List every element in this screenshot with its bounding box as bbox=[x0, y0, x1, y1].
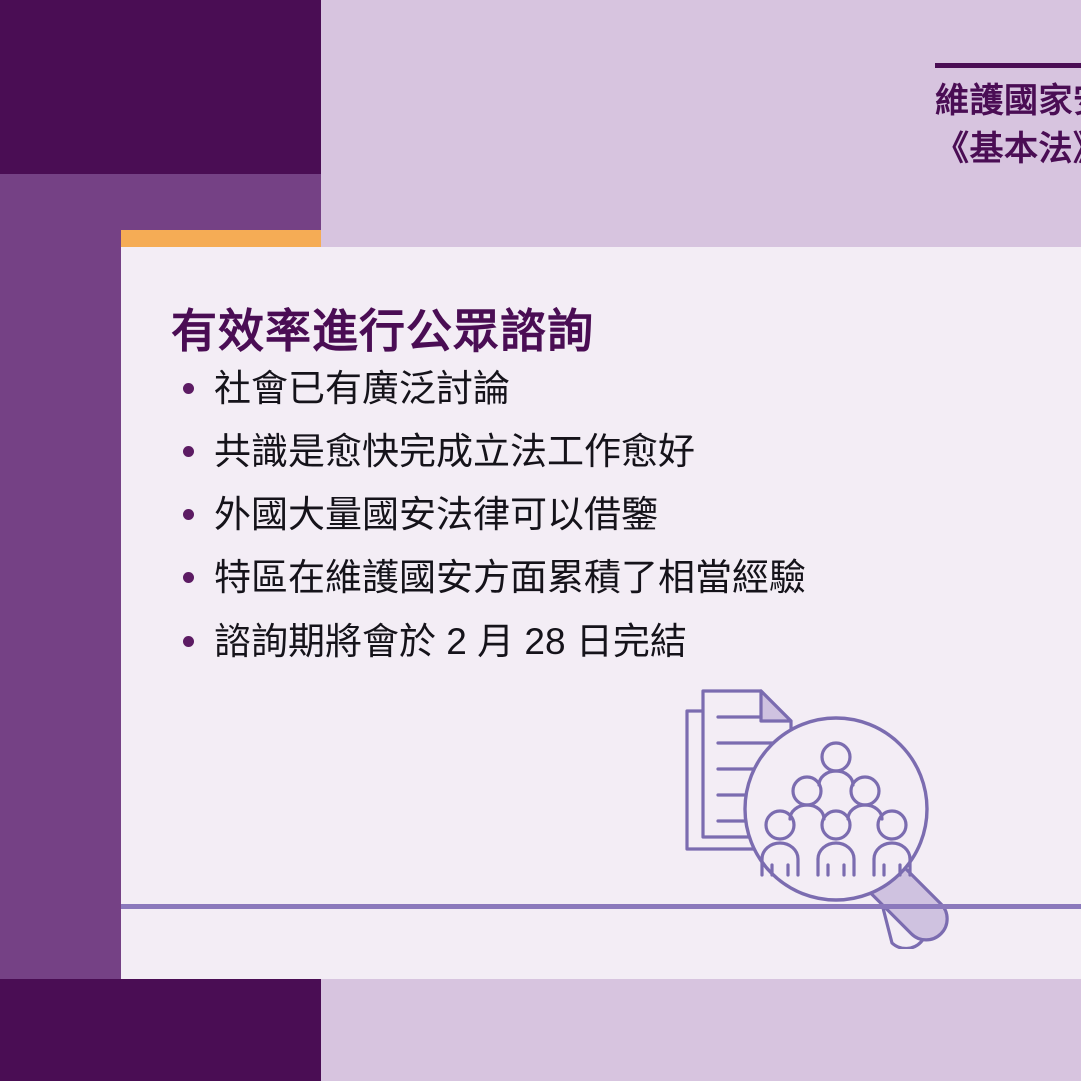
bullet-dot-icon bbox=[183, 446, 194, 457]
list-item: 共識是愈快完成立法工作愈好 bbox=[171, 429, 1001, 474]
list-item-label: 諮詢期將會於 2 月 28 日完結 bbox=[214, 621, 687, 662]
bullet-list: 社會已有廣泛討論 共識是愈快完成立法工作愈好 外國大量國安法律可以借鑒 特區在維… bbox=[171, 366, 1001, 682]
bullet-dot-icon bbox=[183, 636, 194, 647]
list-item-label: 共識是愈快完成立法工作愈好 bbox=[214, 431, 695, 472]
card-divider-rule bbox=[121, 904, 1081, 909]
header-title: 維護國家安全: 《基本法》第二十三條立法 bbox=[935, 78, 1081, 173]
bullet-dot-icon bbox=[183, 383, 194, 394]
header-band: 維護國家安全: 《基本法》第二十三條立法 bbox=[321, 0, 1081, 230]
decorative-block-dark-top-left bbox=[0, 0, 321, 174]
bullet-dot-icon bbox=[183, 572, 194, 583]
list-item: 特區在維護國安方面累積了相當經驗 bbox=[171, 555, 1001, 600]
list-item: 社會已有廣泛討論 bbox=[171, 366, 1001, 411]
list-item: 外國大量國安法律可以借鑒 bbox=[171, 492, 1001, 537]
decorative-block-lavender-bottom bbox=[321, 979, 1081, 1081]
bullet-dot-icon bbox=[183, 509, 194, 520]
list-item-label: 社會已有廣泛討論 bbox=[214, 368, 510, 409]
list-item-label: 特區在維護國安方面累積了相當經驗 bbox=[214, 557, 806, 598]
content-card: 有效率進行公眾諮詢 社會已有廣泛討論 共識是愈快完成立法工作愈好 外國大量國安法… bbox=[121, 247, 1081, 979]
list-item: 諮詢期將會於 2 月 28 日完結 bbox=[171, 619, 1001, 664]
infographic-canvas: 維護國家安全: 《基本法》第二十三條立法 有效率進行公眾諮詢 社會已有廣泛討論 … bbox=[0, 0, 1081, 1081]
header-divider-rule bbox=[935, 63, 1081, 68]
decorative-block-dark-bottom-left bbox=[0, 979, 321, 1081]
orange-accent-bar bbox=[121, 230, 321, 247]
list-item-label: 外國大量國安法律可以借鑒 bbox=[214, 494, 658, 535]
page-title: 有效率進行公眾諮詢 bbox=[171, 295, 594, 361]
